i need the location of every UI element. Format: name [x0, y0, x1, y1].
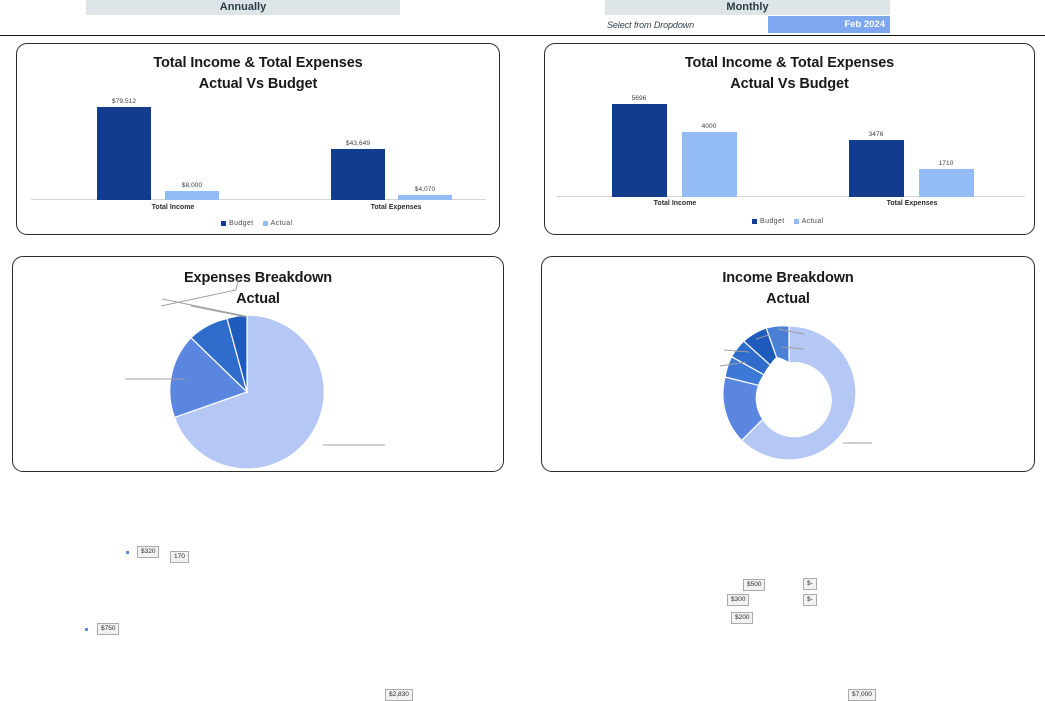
income-donut-graphic: $500 $300 $200 $- $- $7,000	[542, 257, 1036, 473]
monthly-bar-plot: 5696 4000 Total Income 3476 1710 Total E…	[557, 94, 1025, 197]
monthly-bar-title: Total Income & Total Expenses Actual Vs …	[545, 53, 1034, 95]
annual-bar-legend-budget[interactable]: Budget	[221, 220, 254, 227]
expenses-leader-320b	[162, 299, 245, 316]
annual-bar-legend-actual-label: Actual	[271, 220, 293, 227]
budget-swatch-icon	[752, 219, 757, 224]
monthly-bar-income-budget[interactable]	[612, 104, 667, 197]
income-label-200: $200	[731, 612, 753, 624]
expenses-marker-750-icon	[85, 628, 88, 631]
expenses-label-2830: $2,830	[385, 689, 413, 701]
monthly-bar-expenses-budget[interactable]	[849, 140, 904, 197]
monthly-bar-expenses-budget-value: 3476	[841, 131, 911, 138]
monthly-bar-title-line2: Actual Vs Budget	[545, 74, 1034, 95]
monthly-header-cell: Monthly	[605, 0, 890, 15]
expenses-pie-card: Expenses Breakdown Actual	[12, 256, 504, 472]
income-label-7000: $7,000	[848, 689, 876, 701]
expenses-marker-320-icon	[126, 551, 129, 554]
annual-bar-income-budget[interactable]	[97, 107, 151, 200]
monthly-bar-income-budget-value: 5696	[604, 95, 674, 102]
expenses-label-170: 170	[170, 551, 189, 563]
monthly-bar-title-line1: Total Income & Total Expenses	[685, 55, 894, 71]
expenses-label-320: $320	[137, 546, 159, 558]
income-donut-rings	[723, 326, 856, 460]
monthly-bar-legend-budget[interactable]: Budget	[752, 218, 785, 225]
annual-bar-income-actual-value: $8,000	[157, 182, 227, 189]
income-label-zero-b: $-	[803, 594, 817, 606]
annual-bar-legend-actual[interactable]: Actual	[263, 220, 293, 227]
annual-bar-income-actual[interactable]	[165, 191, 219, 200]
monthly-bar-expenses-actual[interactable]	[919, 169, 974, 197]
income-label-500: $500	[743, 579, 765, 591]
expenses-leader-170	[191, 306, 246, 317]
annual-bar-card: Total Income & Total Expenses Actual Vs …	[16, 43, 500, 235]
annual-bar-income-budget-value: $79,512	[89, 98, 159, 105]
annual-bar-legend: Budget Actual	[221, 220, 292, 227]
monthly-bar-legend-actual-label: Actual	[802, 218, 824, 225]
annual-bar-plot: $79,512 $8,000 Total Income $43,649 $4,0…	[31, 96, 486, 200]
month-dropdown[interactable]: Feb 2024	[768, 16, 890, 33]
annual-bar-title: Total Income & Total Expenses Actual Vs …	[17, 53, 499, 95]
monthly-bar-legend-budget-label: Budget	[760, 218, 785, 225]
actual-swatch-icon	[263, 221, 268, 226]
dropdown-hint-label: Select from Dropdown	[607, 20, 694, 30]
annual-bar-expenses-actual-value: $4,070	[390, 186, 460, 193]
annual-bar-expenses-budget[interactable]	[331, 149, 385, 200]
expenses-leader-320	[161, 280, 238, 306]
budget-swatch-icon	[221, 221, 226, 226]
monthly-bar-card: Total Income & Total Expenses Actual Vs …	[544, 43, 1035, 235]
annually-header-cell: Annually	[86, 0, 400, 15]
annual-bar-category-income: Total Income	[123, 204, 223, 211]
monthly-bar-legend: Budget Actual	[752, 218, 823, 225]
annual-bar-title-line2: Actual Vs Budget	[17, 74, 499, 95]
monthly-bar-legend-actual[interactable]: Actual	[794, 218, 824, 225]
income-donut-card: Income Breakdown Actual	[541, 256, 1035, 472]
income-label-zero-a: $-	[803, 578, 817, 590]
monthly-bar-income-actual-value: 4000	[674, 123, 744, 130]
dashboard-page: Annually Monthly Select from Dropdown Fe…	[0, 0, 1045, 472]
monthly-bar-expenses-actual-value: 1710	[911, 160, 981, 167]
annual-bar-category-expenses: Total Expenses	[341, 204, 451, 211]
header-divider	[0, 35, 1045, 36]
actual-swatch-icon	[794, 219, 799, 224]
annual-bar-expenses-budget-value: $43,649	[323, 140, 393, 147]
income-label-300: $300	[727, 594, 749, 606]
monthly-bar-category-income: Total Income	[625, 200, 725, 207]
annual-bar-title-line1: Total Income & Total Expenses	[153, 55, 362, 71]
expenses-pie-graphic: $320 170 $750 $2,830	[13, 257, 505, 473]
monthly-bar-category-expenses: Total Expenses	[857, 200, 967, 207]
monthly-bar-income-actual[interactable]	[682, 132, 737, 197]
annual-bar-legend-budget-label: Budget	[229, 220, 254, 227]
expenses-label-750: $750	[97, 623, 119, 635]
annual-bar-expenses-actual[interactable]	[398, 195, 452, 200]
